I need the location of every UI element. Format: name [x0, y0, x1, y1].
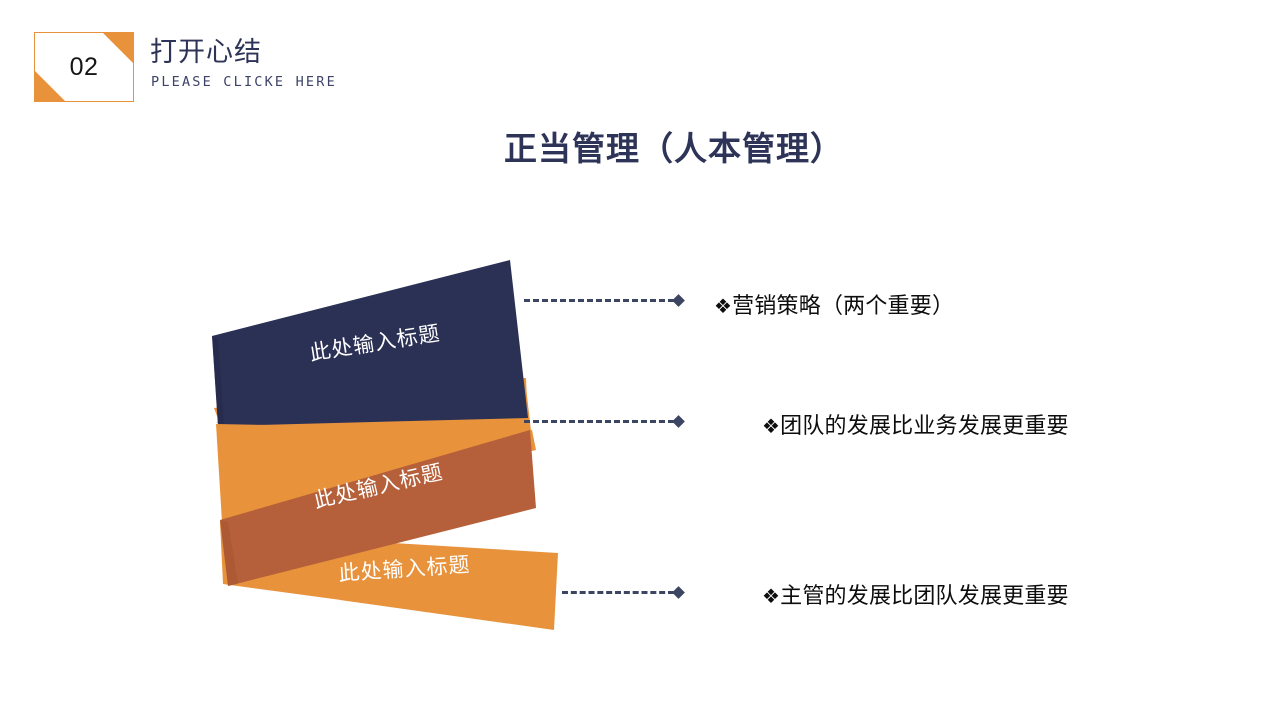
ribbon-band-orange [340, 540, 558, 630]
bullet-text-3: 主管的发展比团队发展更重要 [780, 583, 1069, 608]
connector-dash-2 [524, 420, 674, 423]
connector-arrow-1-icon [672, 294, 685, 307]
section-title: 打开心结 [150, 30, 262, 69]
connector-arrow-3-icon [672, 586, 685, 599]
bullet-text-1: 营销策略（两个重要） [732, 293, 954, 318]
bullet-item-1: ❖营销策略（两个重要） [714, 288, 954, 320]
bullet-item-2: ❖团队的发展比业务发展更重要 [762, 408, 1069, 440]
bullet-marker-3-icon: ❖ [762, 586, 780, 608]
page-title: 正当管理（人本管理） [0, 122, 1280, 170]
connector-dash-1 [524, 299, 674, 302]
connector-line-1 [524, 294, 684, 308]
connector-dash-3 [562, 591, 674, 594]
section-subtitle: PLEASE CLICKE HERE [151, 74, 337, 90]
slide-header: 02 打开心结 PLEASE CLICKE HERE [34, 28, 634, 108]
connector-arrow-2-icon [672, 415, 685, 428]
connector-line-2 [524, 415, 684, 429]
bullet-text-2: 团队的发展比业务发展更重要 [780, 413, 1069, 438]
bullet-item-3: ❖主管的发展比团队发展更重要 [762, 578, 1069, 610]
section-number: 02 [35, 33, 133, 101]
section-number-badge: 02 [34, 32, 134, 102]
bullet-marker-2-icon: ❖ [762, 416, 780, 438]
connector-line-3 [562, 586, 684, 600]
bullet-marker-1-icon: ❖ [714, 296, 732, 318]
